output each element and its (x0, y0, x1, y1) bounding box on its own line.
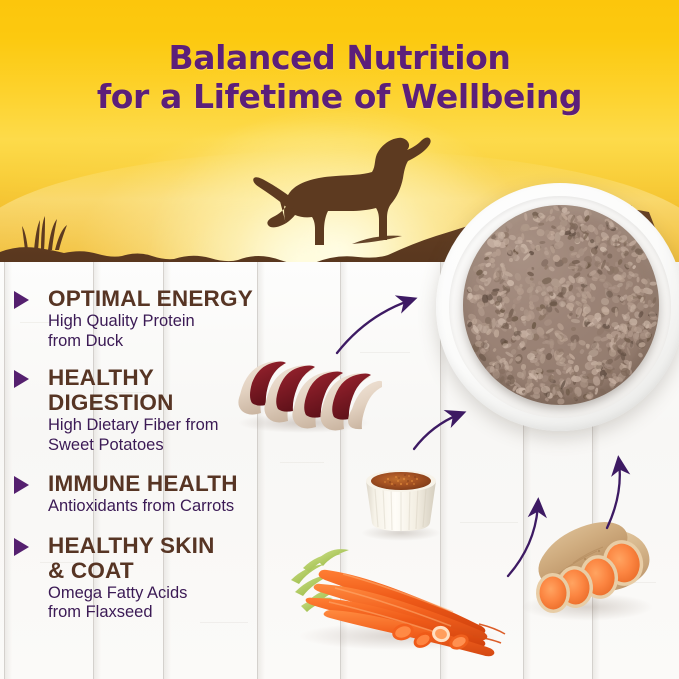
pate-food (463, 205, 659, 405)
carrots-image (283, 540, 515, 658)
page-title: Balanced Nutrition for a Lifetime of Wel… (0, 38, 679, 116)
dog-food-bowl (436, 183, 679, 431)
dog-silhouette (253, 138, 430, 245)
sweet-potato-image (513, 497, 663, 632)
triangle-bullet-icon (14, 370, 29, 388)
grass-tuft-left (22, 216, 67, 250)
triangle-bullet-icon (14, 476, 29, 494)
triangle-bullet-icon (14, 538, 29, 556)
benefit-item-immune-health: IMMUNE HEALTH Antioxidants from Carrots (14, 471, 334, 517)
title-line-1: Balanced Nutrition (0, 38, 679, 77)
flaxseed-ramekin-image (352, 459, 450, 541)
benefit-heading: IMMUNE HEALTH (48, 471, 334, 496)
benefit-item-optimal-energy: OPTIMAL ENERGY High Quality Protein from… (14, 286, 334, 351)
benefit-subtext-line: Antioxidants from Carrots (48, 497, 334, 517)
title-line-2: for a Lifetime of Wellbeing (0, 77, 679, 116)
benefit-subtext: Antioxidants from Carrots (48, 497, 334, 517)
benefit-heading: OPTIMAL ENERGY (48, 286, 334, 311)
benefit-subtext-line: Sweet Potatoes (48, 436, 334, 456)
product-benefits-infographic: Balanced Nutrition for a Lifetime of Wel… (0, 0, 679, 679)
duck-breast-slices-image (222, 343, 382, 435)
triangle-bullet-icon (14, 291, 29, 309)
benefit-subtext-line: High Quality Protein (48, 312, 334, 332)
